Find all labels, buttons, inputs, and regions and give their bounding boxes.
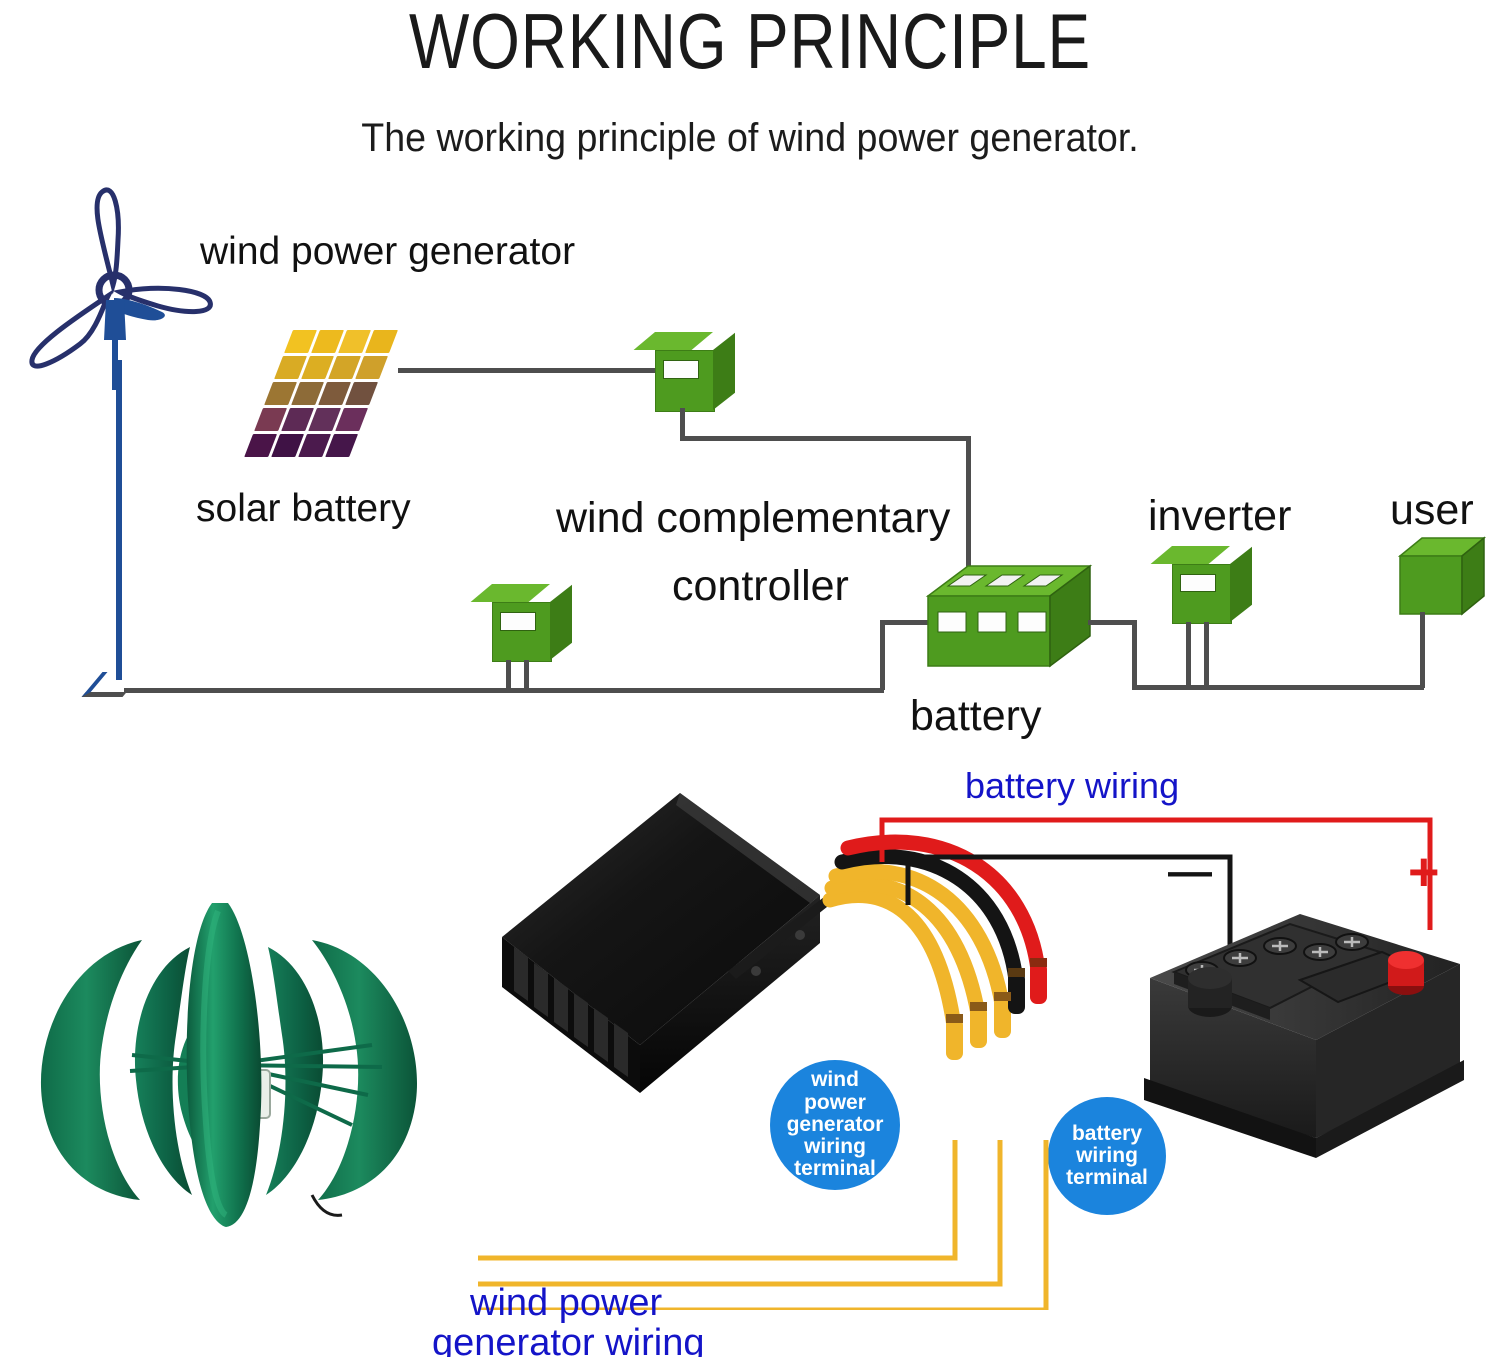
wire-user-leg [1420, 612, 1425, 688]
solar-row [264, 382, 378, 405]
gbox-top [471, 584, 550, 602]
gbox-side [1230, 547, 1252, 622]
label-wind-complementary: wind complementary [556, 494, 950, 543]
gbox-top [1151, 546, 1230, 564]
negative-sign: — [1168, 850, 1212, 894]
wire-solar-to-controller [398, 368, 658, 373]
wire-inverter-leg-right [1204, 622, 1209, 688]
wire-to-battery-top [966, 436, 971, 571]
controller-box-bottom [492, 584, 582, 662]
gbox-top [634, 332, 713, 350]
label-battery: battery [910, 692, 1041, 741]
vertical-axis-turbine-photo [12, 895, 452, 1235]
car-battery-photo [1130, 890, 1480, 1180]
badge-line: power [787, 1092, 884, 1114]
solar-cell [365, 330, 398, 353]
badge-lines: battery wiring terminal [1066, 1123, 1148, 1190]
page-title: WORKING PRINCIPLE [135, 0, 1365, 87]
label-inverter: inverter [1148, 492, 1291, 541]
gbox-display [663, 360, 699, 379]
solar-row [284, 330, 398, 353]
controller-box-top [655, 332, 745, 410]
gbox-side [713, 333, 735, 410]
badge-line: wiring [1066, 1145, 1148, 1167]
label-wind-power-generator: wind power generator [200, 230, 575, 274]
wire-battery-inverter-drop [1132, 620, 1137, 688]
label-generator-wiring-line1: wind power [470, 1282, 662, 1325]
solar-row [274, 356, 388, 379]
solar-cell [345, 382, 378, 405]
wire-bottom-bus [124, 688, 884, 693]
label-user: user [1390, 486, 1474, 535]
wire-inverter-leg-left [1186, 622, 1191, 688]
solar-row [254, 408, 368, 431]
gbox-front [1172, 564, 1232, 624]
badge-line: battery [1066, 1123, 1148, 1145]
inverter-icon [1172, 546, 1262, 624]
badge-line: generator [787, 1114, 884, 1136]
gbox-front [492, 602, 552, 662]
wire-ctrl-top-right [680, 436, 970, 441]
working-principle-page: WORKING PRINCIPLE The working principle … [0, 0, 1500, 1357]
label-battery-wiring: battery wiring [965, 765, 1179, 807]
label-controller: controller [672, 562, 849, 611]
wire-inverter-bus [1132, 685, 1210, 690]
label-generator-wiring-line2: generator wiring [432, 1322, 704, 1357]
badge-line: wind [787, 1069, 884, 1091]
solar-panel-icon [243, 330, 398, 460]
gbox-display [1180, 574, 1216, 592]
battery-icon [920, 556, 1095, 676]
user-icon [1398, 534, 1498, 618]
page-subtitle: The working principle of wind power gene… [45, 116, 1455, 161]
gbox-side [550, 585, 572, 660]
solar-row [244, 434, 358, 457]
label-solar-battery: solar battery [196, 487, 411, 531]
solar-cell [355, 356, 388, 379]
wire-user-to-bus [1204, 685, 1424, 690]
solar-cell [335, 408, 368, 431]
turbine-wire-corner [82, 672, 144, 697]
gbox-display [500, 612, 536, 631]
wire-battery-to-inverter [1088, 620, 1136, 625]
solar-cell [325, 434, 358, 457]
wire-bus-riser-to-battery [880, 620, 885, 690]
turbine-tower-wire [116, 360, 122, 680]
badge-line: terminal [1066, 1167, 1148, 1189]
